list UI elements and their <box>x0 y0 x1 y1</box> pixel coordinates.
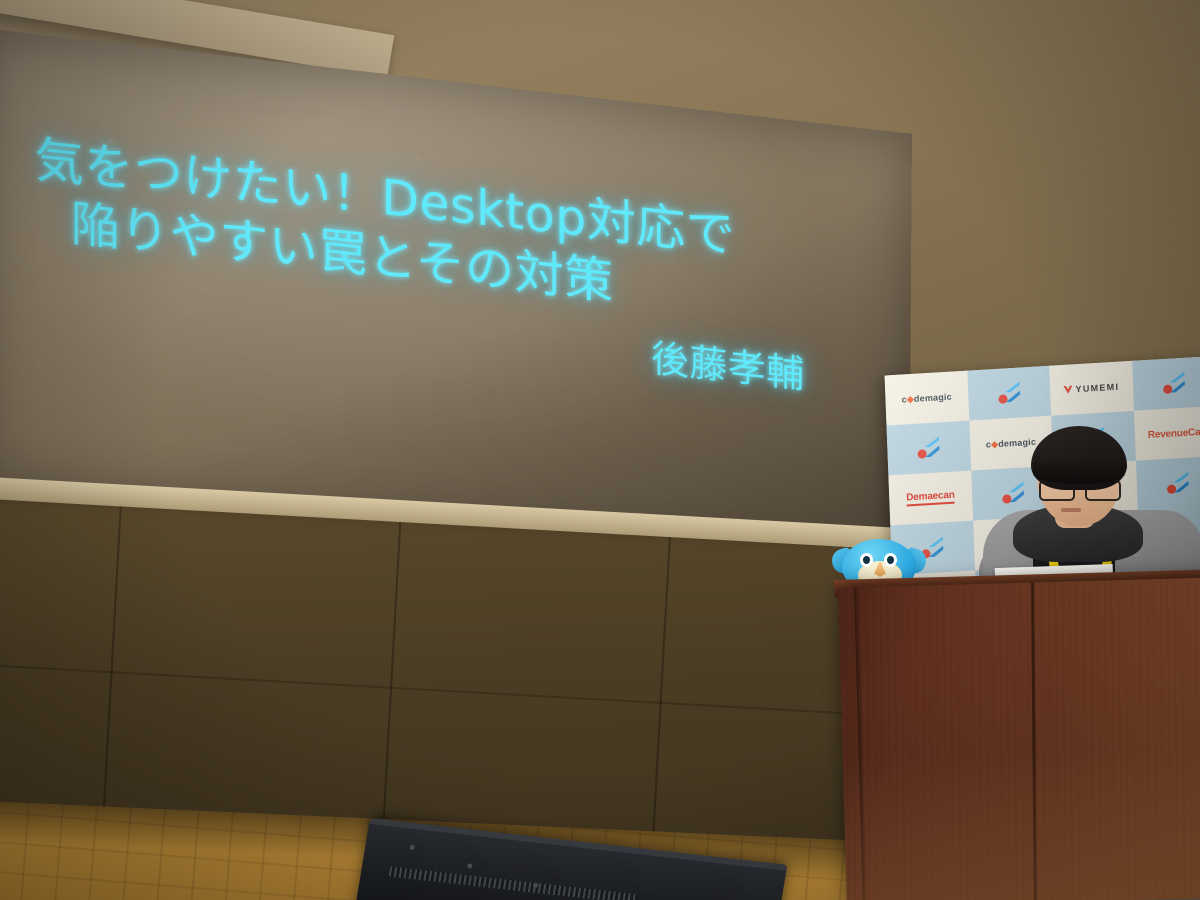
banner-tile <box>1132 356 1200 411</box>
flutter-chevron-lower <box>928 545 943 557</box>
flutter-logo-icon <box>915 434 942 462</box>
demaecan-logo: Demaecan <box>906 490 955 507</box>
laptop-screw <box>409 845 415 850</box>
flutter-chevron-upper <box>928 536 943 547</box>
yumemi-logo: YUMEMI <box>1063 382 1119 395</box>
presenter-mouth <box>1061 508 1081 512</box>
banner-tile: Demaecan <box>888 471 972 526</box>
yumemi-wordmark: YUMEMI <box>1075 382 1119 395</box>
flutter-dot <box>1163 385 1172 395</box>
flutter-dot <box>918 449 927 459</box>
laptop-vent <box>389 867 639 900</box>
flutter-chevron-upper <box>1169 372 1184 383</box>
conference-photo: 気をつけたい！Desktop対応で 陥りやすい罠とその対策 後藤孝輔 c◆dem… <box>0 0 1200 900</box>
podium-reflection <box>843 747 1200 900</box>
dash-pupil-right <box>887 556 894 564</box>
laptop-screw <box>467 863 473 868</box>
flutter-chevron-lower <box>1005 391 1020 403</box>
yumemi-mark-icon <box>1063 385 1072 394</box>
dash-pupil-left <box>863 556 870 564</box>
flutter-chevron-lower <box>925 445 940 457</box>
codemagic-logo: c◆demagic <box>901 391 952 405</box>
panel-horizontal-seam <box>0 663 959 721</box>
banner-tile <box>887 421 971 476</box>
flutter-logo-icon <box>996 379 1023 407</box>
flutter-chevron-upper <box>1005 382 1020 393</box>
banner-tile <box>967 366 1051 421</box>
banner-tile: c◆demagic <box>885 371 969 426</box>
wooden-podium <box>838 577 1200 900</box>
flutter-dot <box>998 394 1007 404</box>
presenter-hair-fringe <box>1033 462 1125 484</box>
flutter-chevron-lower <box>1170 381 1185 393</box>
banner-tile: YUMEMI <box>1049 361 1133 416</box>
flutter-logo-icon <box>1160 370 1187 398</box>
flutter-chevron-upper <box>924 436 939 447</box>
